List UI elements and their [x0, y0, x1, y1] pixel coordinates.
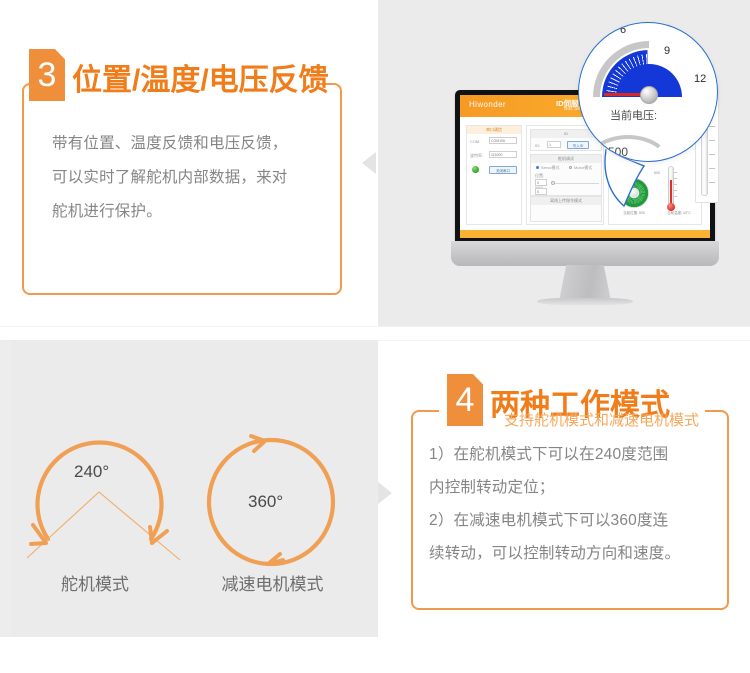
motor-mode-radio[interactable] — [569, 166, 572, 169]
scale-tick — [709, 168, 715, 169]
gauge-tick-label-6: 6 — [620, 24, 626, 36]
row-divider — [0, 326, 750, 340]
card-4-subtitle: 支持舵机模式和减速电机模式 — [504, 412, 699, 430]
feature-card-4: 4 两种工作模式 支持舵机模式和减速电机模式 1）在舵机模式下可以在240度范围… — [411, 410, 729, 610]
connection-status-led — [472, 166, 479, 173]
thermometer-tick — [674, 184, 677, 185]
com-port-select[interactable]: COM106 — [489, 137, 517, 144]
page-bottom-margin — [0, 637, 750, 673]
temperature-caption: 当前温度: 43°C — [657, 211, 701, 216]
thermometer-tick — [674, 172, 677, 173]
servo-mode-caption: 舵机模式 — [20, 570, 170, 595]
write-id-button[interactable]: 写入ID — [567, 141, 589, 149]
brand-logo: Hiwonder — [469, 100, 506, 109]
step-number-badge-4: 4 — [447, 374, 483, 426]
servo-mode-radio[interactable] — [536, 166, 539, 169]
close-serial-button[interactable]: 关闭串口 — [489, 166, 517, 174]
card-3-header: 3 位置/温度/电压反馈 — [29, 49, 329, 101]
serial-panel-title: 串口通信 — [467, 126, 521, 134]
servo-mode-label: Servo模式 — [541, 165, 559, 171]
position-value-input[interactable]: 0 — [535, 179, 547, 186]
com-port-label: COM: — [470, 139, 480, 144]
monitor-stand-neck — [559, 265, 611, 301]
position-gauge-value: 500 — [654, 171, 660, 175]
offline-group: 离线上传指令模式 — [530, 196, 602, 222]
gauge-tick-label-12: 12 — [694, 73, 706, 85]
gauge-tick-label-9: 9 — [664, 45, 670, 57]
gearmotor-mode-caption: 减速电机模式 — [190, 570, 355, 595]
feature-card-3: 3 位置/温度/电压反馈 带有位置、温度反馈和电压反馈， 可以实时了解舵机内部数… — [22, 83, 342, 295]
position-slider-knob[interactable] — [551, 181, 555, 185]
thermometer-tick — [674, 178, 677, 179]
panel-bottom-left-edge-strip — [0, 340, 11, 637]
scale-tick — [709, 182, 715, 183]
monitor-stand-base — [537, 298, 633, 305]
serial-panel: 串口通信 COM: COM106 波特率: 115200 关闭串口 — [466, 125, 522, 225]
scale-tick — [709, 154, 715, 155]
servo-id-input[interactable]: 1 — [547, 141, 561, 148]
card-3-body-text: 带有位置、温度反馈和电压反馈， 可以实时了解舵机内部数据，来对 舵机进行保护。 — [52, 127, 318, 229]
software-footer-bar — [460, 230, 710, 238]
position-caption: 当前位置: 500 — [611, 211, 657, 216]
arrow-left-icon — [362, 152, 376, 174]
baud-rate-label: 波特率: — [470, 153, 483, 159]
step-number-badge-3: 3 — [29, 49, 65, 101]
thermometer-tick — [674, 196, 677, 197]
voltage-gauge-zoomed — [593, 41, 705, 153]
gauge-hub — [640, 86, 658, 104]
thermometer-bulb — [667, 203, 675, 211]
servo-id-label: ID: — [535, 143, 540, 148]
card-4-body-text: 1）在舵机模式下可以在240度范围 内控制转动定位； 2）在减速电机模式下可以3… — [429, 438, 719, 570]
motor-mode-label: Motor模式 — [574, 165, 592, 171]
infographic-page: 3 位置/温度/电压反馈 带有位置、温度反馈和电压反馈， 可以实时了解舵机内部数… — [0, 0, 750, 673]
time-value-input[interactable]: 0 — [535, 188, 547, 195]
offline-group-title: 离线上传指令模式 — [531, 197, 601, 205]
voltage-gauge-label: 当前电压: — [610, 107, 657, 123]
card-3-title: 位置/温度/电压反馈 — [65, 61, 329, 101]
thermometer-tick — [674, 190, 677, 191]
gearmotor-degrees-label: 360° — [248, 492, 283, 512]
servo-degrees-label: 240° — [74, 462, 109, 482]
magnifier-callout: 6 9 12 当前电压: 500 — [578, 22, 718, 162]
baud-rate-select[interactable]: 115200 — [489, 151, 517, 158]
scale-tick — [709, 140, 715, 141]
arrow-right-icon — [378, 482, 392, 504]
temperature-thermometer-icon — [665, 166, 677, 214]
position-slider-track[interactable] — [551, 183, 599, 184]
monitor-chin — [451, 241, 719, 266]
scale-tick — [709, 126, 715, 127]
